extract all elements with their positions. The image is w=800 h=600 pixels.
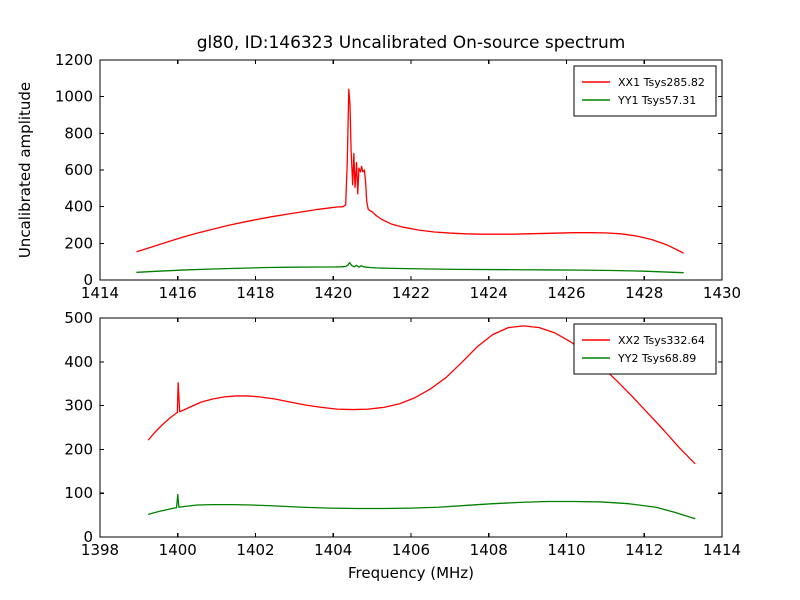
series-line xyxy=(137,263,683,273)
legend-label: YY1 Tsys57.31 xyxy=(617,94,696,107)
legend-frame xyxy=(574,66,716,116)
y-tick-label: 800 xyxy=(64,124,93,142)
y-tick-label: 100 xyxy=(64,484,93,502)
x-axis-label-bottom: Frequency (MHz) xyxy=(348,564,474,582)
x-tick-label: 1404 xyxy=(314,541,352,559)
x-tick-label: 1406 xyxy=(392,541,430,559)
y-tick-label: 500 xyxy=(64,309,93,327)
x-tick-label: 1414 xyxy=(703,541,741,559)
y-tick-label: 400 xyxy=(64,198,93,216)
top-panel-traces xyxy=(137,89,683,272)
bottom-panel-group: 1398140014021404140614081410141214140100… xyxy=(64,309,741,582)
x-tick-label: 1430 xyxy=(703,284,741,302)
y-tick-label: 1200 xyxy=(55,51,93,69)
x-tick-label: 1424 xyxy=(470,284,508,302)
bottom-panel-legend[interactable]: XX2 Tsys332.64YY2 Tsys68.89 xyxy=(574,324,716,374)
spectrum-plot: gl80, ID:146323 Uncalibrated On-source s… xyxy=(0,0,800,600)
series-line xyxy=(149,495,695,519)
y-tick-label: 600 xyxy=(64,161,93,179)
x-tick-label: 1402 xyxy=(236,541,274,559)
top-panel-group: gl80, ID:146323 Uncalibrated On-source s… xyxy=(16,33,741,302)
y-axis-label-top: Uncalibrated amplitude xyxy=(16,82,34,258)
y-tick-label: 200 xyxy=(64,440,93,458)
y-tick-label: 0 xyxy=(83,528,93,546)
y-tick-label: 0 xyxy=(83,271,93,289)
legend-label: XX1 Tsys285.82 xyxy=(618,76,705,89)
x-tick-label: 1412 xyxy=(625,541,663,559)
x-tick-label: 1418 xyxy=(236,284,274,302)
y-tick-label: 400 xyxy=(64,353,93,371)
y-tick-label: 300 xyxy=(64,397,93,415)
top-panel-legend[interactable]: XX1 Tsys285.82YY1 Tsys57.31 xyxy=(574,66,716,116)
figure-canvas: gl80, ID:146323 Uncalibrated On-source s… xyxy=(0,0,800,600)
legend-label: YY2 Tsys68.89 xyxy=(617,352,696,365)
x-tick-label: 1426 xyxy=(547,284,585,302)
y-tick-label: 1000 xyxy=(55,88,93,106)
x-tick-label: 1408 xyxy=(470,541,508,559)
legend-frame xyxy=(574,324,716,374)
page-title: gl80, ID:146323 Uncalibrated On-source s… xyxy=(197,33,626,53)
x-tick-label: 1428 xyxy=(625,284,663,302)
x-tick-label: 1410 xyxy=(547,541,585,559)
x-tick-label: 1416 xyxy=(159,284,197,302)
x-tick-label: 1420 xyxy=(314,284,352,302)
x-tick-label: 1422 xyxy=(392,284,430,302)
legend-label: XX2 Tsys332.64 xyxy=(618,334,705,347)
x-tick-label: 1400 xyxy=(159,541,197,559)
y-tick-label: 200 xyxy=(64,234,93,252)
